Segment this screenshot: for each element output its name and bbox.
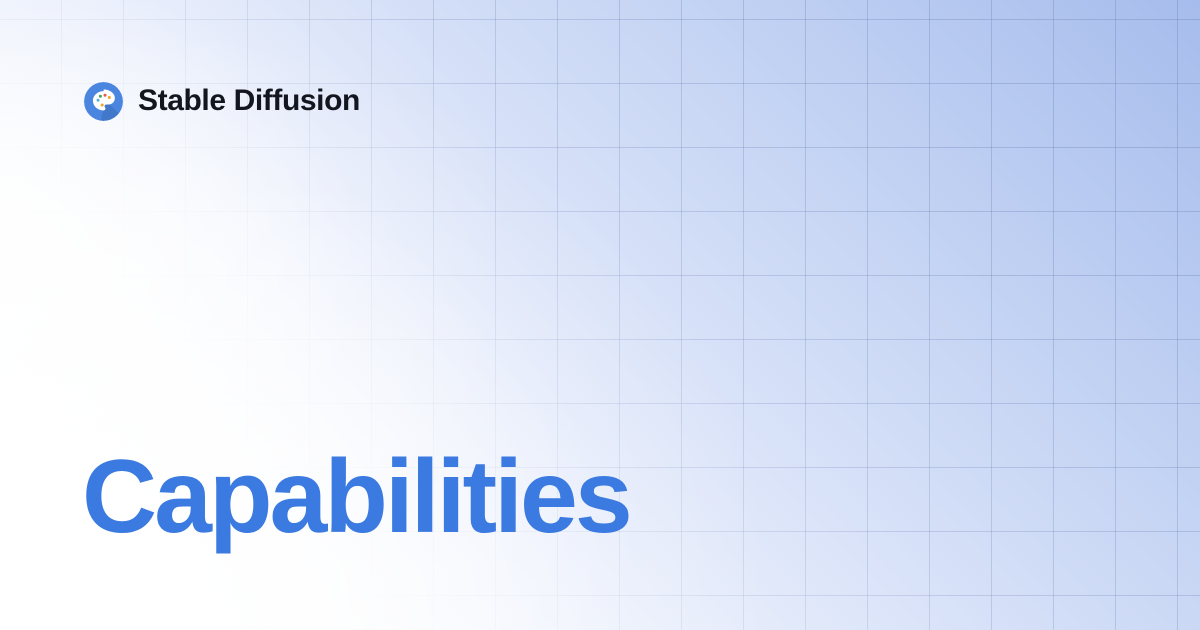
page-title: Capabilities [82, 443, 630, 552]
og-card: Stable Diffusion Capabilities [0, 0, 1200, 630]
brand-lockup: Stable Diffusion [84, 81, 360, 121]
palette-icon [84, 82, 123, 121]
brand-name: Stable Diffusion [138, 86, 360, 116]
